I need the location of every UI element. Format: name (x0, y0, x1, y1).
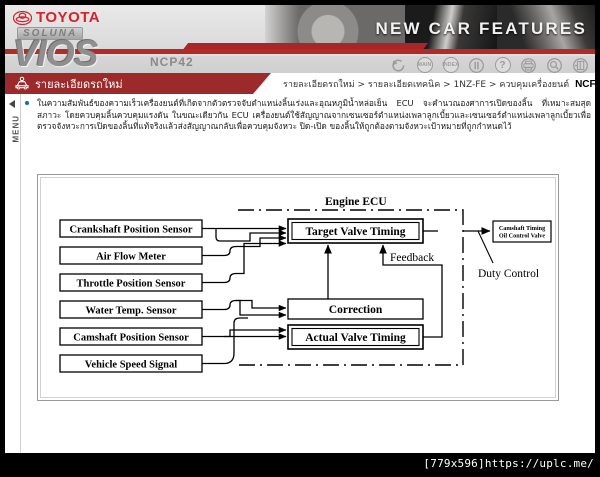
pause-icon[interactable] (468, 57, 485, 74)
input-label-4: Camshaft Position Sensor (73, 333, 189, 344)
diagram-figure: Engine ECU Crankshaft Position Sensor Ai… (37, 174, 559, 401)
screenshot-root: NEW CAR FEATURES TOYOTA SOLUNA VIOS NCP4… (0, 0, 600, 477)
bookmark-icon[interactable] (572, 57, 589, 74)
toyota-emblem-icon (13, 11, 32, 25)
feedback-label: Feedback (390, 252, 434, 264)
document-code: NCF047 (575, 79, 596, 90)
ecu-label: Engine ECU (325, 196, 387, 208)
input-label-0: Crankshaft Position Sensor (69, 225, 192, 236)
toyota-wordmark: TOYOTA (36, 9, 100, 26)
footer-dimensions: [779x596] (423, 457, 484, 470)
input-label-3: Water Temp. Sensor (85, 306, 176, 317)
ocv-label-line1: Camshaft Timing (499, 225, 546, 232)
help-icon[interactable]: ? (494, 57, 511, 74)
content-area: ในความสัมพันธ์ของความเร็วเครื่องยนต์ที่เ… (21, 94, 595, 453)
duty-control-label: Duty Control (478, 268, 539, 280)
input-boxes: Crankshaft Position Sensor Air Flow Mete… (60, 220, 202, 372)
help-icon-label: ? (495, 57, 511, 73)
main-icon[interactable]: MAIN (416, 57, 433, 74)
index-icon[interactable]: INDEX (442, 57, 459, 74)
main-icon-label: MAIN (417, 57, 433, 73)
car-icon (14, 76, 30, 90)
section-titlebar: รายละเอียดรถใหม่ รายละเอียดรถใหม่ > รายล… (5, 73, 595, 94)
input-label-2: Throttle Position Sensor (77, 279, 186, 290)
ocv-label-line2: Oil Control Valve (499, 233, 546, 240)
breadcrumb: รายละเอียดรถใหม่ > รายละเอียดเทคนิค > 1N… (283, 77, 596, 91)
toyota-logo: TOYOTA (13, 9, 100, 26)
toolbar: MAIN INDEX ? (390, 57, 589, 73)
app-header: NEW CAR FEATURES TOYOTA SOLUNA VIOS NCP4… (5, 5, 595, 73)
print-icon[interactable] (520, 57, 537, 74)
titlebar-arrow (253, 73, 271, 94)
wiring (202, 229, 286, 364)
input-label-5: Vehicle Speed Signal (85, 360, 177, 371)
block-label-actual: Actual Valve Timing (305, 332, 406, 344)
engine-ecu-block-diagram: Engine ECU Crankshaft Position Sensor Ai… (38, 175, 558, 400)
body-paragraph-text: ในความสัมพันธ์ของความเร็วเครื่องยนต์ที่เ… (37, 98, 591, 133)
duty-control-leader (478, 231, 493, 263)
ecu-blocks: Target Valve Timing Correction Actual Va… (288, 219, 423, 349)
menu-label: MENU (12, 103, 21, 143)
banner-title: NEW CAR FEATURES (376, 19, 588, 39)
body-paragraph: ในความสัมพันธ์ของความเร็วเครื่องยนต์ที่เ… (25, 98, 591, 133)
footer-url[interactable]: https://uplc.me/ (485, 457, 594, 470)
footer-bar: [779x596]https://uplc.me/ (0, 454, 600, 477)
titlebar-label: รายละเอียดรถใหม่ (35, 75, 123, 93)
footer-info: [779x596]https://uplc.me/ (423, 457, 594, 470)
block-label-correction: Correction (329, 304, 383, 316)
breadcrumb-path[interactable]: รายละเอียดรถใหม่ > รายละเอียดเทคนิค > 1N… (283, 80, 569, 90)
index-icon-label: INDEX (443, 57, 459, 73)
block-label-target: Target Valve Timing (305, 226, 405, 238)
search-icon[interactable] (546, 57, 563, 74)
application-page: NEW CAR FEATURES TOYOTA SOLUNA VIOS NCP4… (4, 4, 596, 454)
back-icon[interactable] (390, 57, 407, 74)
vios-wordmark: VIOS (13, 33, 97, 73)
input-label-1: Air Flow Meter (96, 252, 166, 263)
menu-rail[interactable]: MENU (5, 94, 21, 454)
model-code: NCP42 (150, 55, 194, 69)
